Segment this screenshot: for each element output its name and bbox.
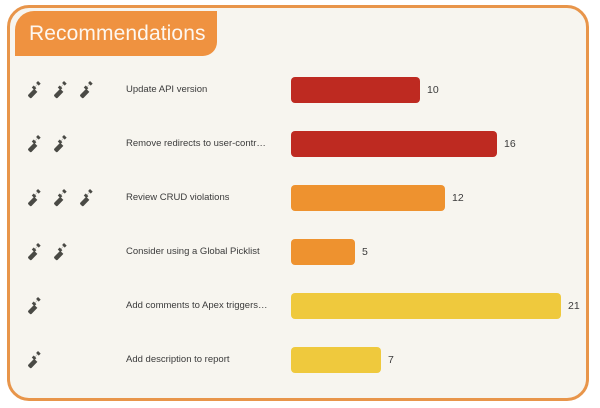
recommendation-row[interactable]: Update API version10 [10, 63, 586, 117]
severity-icons [26, 333, 122, 387]
recommendation-row[interactable]: Consider using a Global Picklist5 [10, 225, 586, 279]
recommendation-label-cell: Add comments to Apex triggers… [126, 279, 286, 333]
recommendation-bar-cell: 21 [291, 279, 586, 333]
recommendation-bar[interactable] [291, 293, 561, 319]
recommendation-row[interactable]: Add description to report7 [10, 333, 586, 387]
recommendation-label: Remove redirects to user-contr… [126, 138, 266, 149]
hammer-icon [26, 349, 48, 371]
hammer-icon [78, 79, 100, 101]
hammer-icon [52, 133, 74, 155]
recommendation-row[interactable]: Review CRUD violations12 [10, 171, 586, 225]
recommendation-bar-cell: 7 [291, 333, 586, 387]
recommendation-value: 12 [452, 193, 464, 204]
recommendation-label: Review CRUD violations [126, 192, 229, 203]
hammer-icon [26, 241, 48, 263]
recommendation-bar-cell: 5 [291, 225, 586, 279]
card-header-tab: Recommendations [15, 11, 217, 56]
recommendations-card: Recommendations Update API version10Remo… [7, 5, 589, 401]
recommendation-value: 7 [388, 355, 394, 366]
recommendation-bar-cell: 10 [291, 63, 586, 117]
severity-icons [26, 117, 122, 171]
recommendation-label-cell: Remove redirects to user-contr… [126, 117, 286, 171]
hammer-icon [26, 79, 48, 101]
hammer-icon [26, 295, 48, 317]
recommendations-list: Update API version10Remove redirects to … [10, 63, 586, 398]
recommendation-bar[interactable] [291, 347, 381, 373]
recommendations-widget: Recommendations Update API version10Remo… [0, 0, 600, 408]
recommendation-bar[interactable] [291, 239, 355, 265]
hammer-icon [26, 133, 48, 155]
recommendation-bar[interactable] [291, 77, 420, 103]
hammer-icon [78, 187, 100, 209]
severity-icons [26, 171, 122, 225]
recommendation-label: Consider using a Global Picklist [126, 246, 260, 257]
hammer-icon [52, 79, 74, 101]
recommendation-row[interactable]: Add comments to Apex triggers…21 [10, 279, 586, 333]
recommendation-value: 21 [568, 301, 580, 312]
recommendation-label-cell: Review CRUD violations [126, 171, 286, 225]
severity-icons [26, 279, 122, 333]
recommendation-label: Update API version [126, 84, 207, 95]
recommendation-label: Add comments to Apex triggers… [126, 300, 268, 311]
recommendation-bar-cell: 12 [291, 171, 586, 225]
recommendation-value: 5 [362, 247, 368, 258]
severity-icons [26, 63, 122, 117]
recommendation-label-cell: Add description to report [126, 333, 286, 387]
hammer-icon [52, 241, 74, 263]
recommendation-label-cell: Update API version [126, 63, 286, 117]
recommendation-value: 10 [427, 85, 439, 96]
recommendation-label-cell: Consider using a Global Picklist [126, 225, 286, 279]
severity-icons [26, 225, 122, 279]
recommendation-bar[interactable] [291, 131, 497, 157]
page-title: Recommendations [29, 23, 206, 44]
hammer-icon [52, 187, 74, 209]
recommendation-bar-cell: 16 [291, 117, 586, 171]
recommendation-label: Add description to report [126, 354, 230, 365]
recommendation-row[interactable]: Remove redirects to user-contr…16 [10, 117, 586, 171]
hammer-icon [26, 187, 48, 209]
recommendation-value: 16 [504, 139, 516, 150]
recommendation-bar[interactable] [291, 185, 445, 211]
